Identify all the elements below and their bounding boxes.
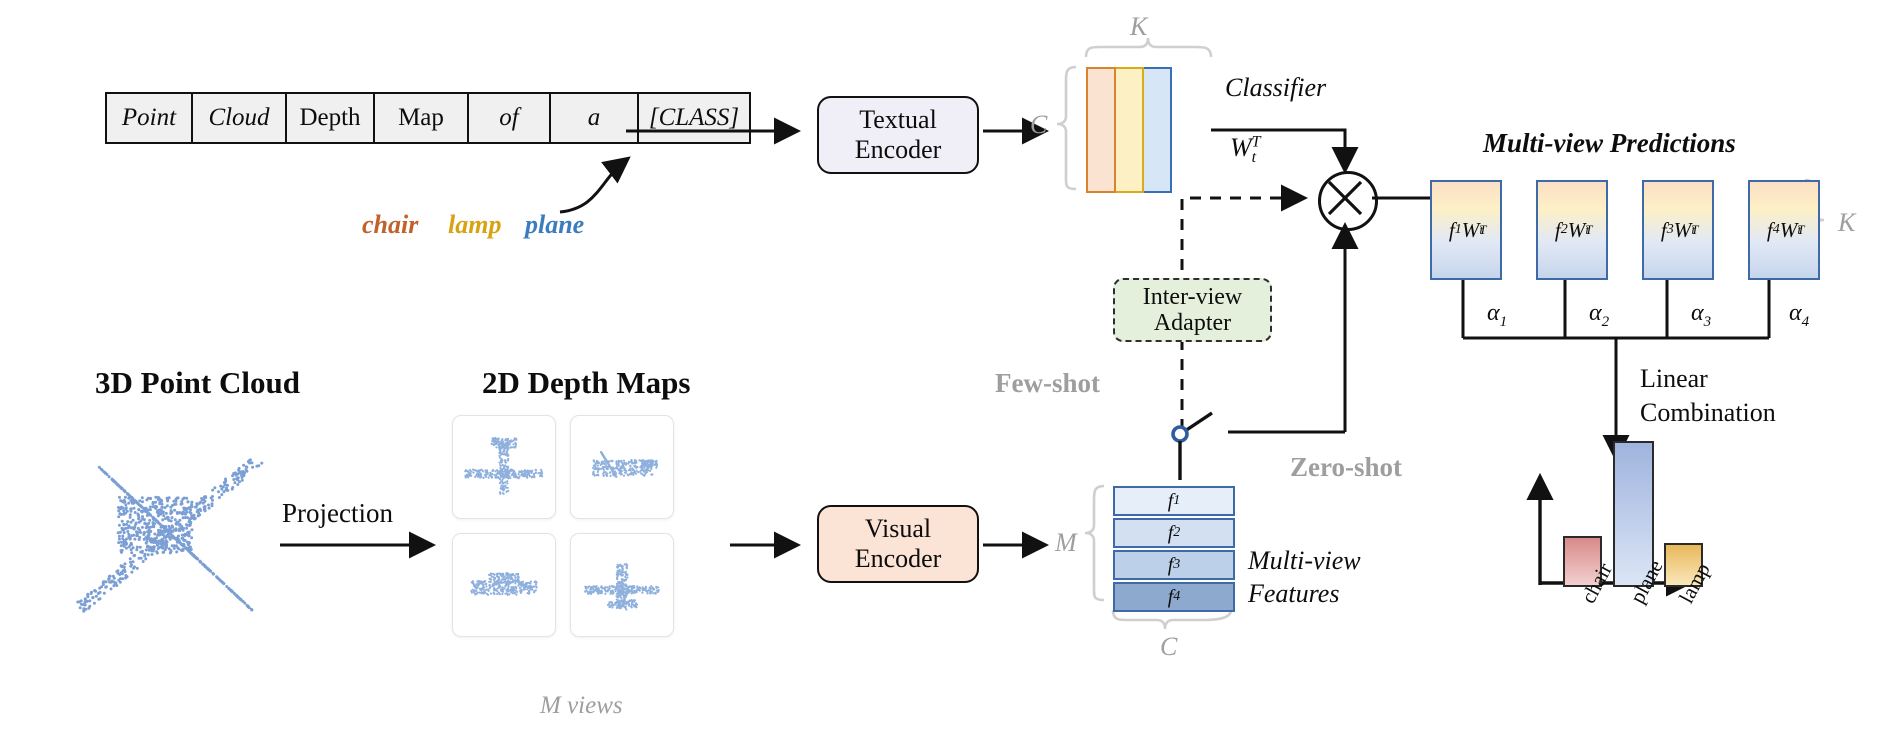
class-substitution-arrow xyxy=(560,160,626,212)
point-cloud-title: 3D Point Cloud xyxy=(95,365,300,401)
classifier-weight-sub: t xyxy=(1252,149,1256,166)
prediction-box-3[interactable]: f3WTt xyxy=(1642,180,1714,280)
prompt-token-of[interactable]: of xyxy=(469,94,551,142)
pred4-wsub: t xyxy=(1797,222,1801,238)
alpha-weight-1: α1 xyxy=(1487,300,1507,331)
linear-combination-label: Linear Combination xyxy=(1640,362,1776,430)
alpha3-sym: α xyxy=(1691,300,1704,326)
label-zero-shot: Zero-shot xyxy=(1290,452,1402,483)
adapter-line1: Inter-view xyxy=(1143,284,1242,310)
pred1-wsub: t xyxy=(1479,222,1483,238)
classifier-column-chair xyxy=(1086,67,1116,193)
label-M-left: M xyxy=(1055,528,1077,558)
class-word-lamp[interactable]: lamp xyxy=(448,210,501,240)
point-cloud-visual xyxy=(60,430,290,620)
depth-map-view-2[interactable] xyxy=(570,415,674,519)
prompt-token-table: Point Cloud Depth Map of a [CLASS] xyxy=(105,92,751,144)
pred4-w: W xyxy=(1780,218,1798,243)
feature-row-f1: f1 xyxy=(1113,486,1235,516)
features-caption-line2: Features xyxy=(1248,578,1361,611)
alpha4-sub: 4 xyxy=(1802,314,1810,330)
textual-encoder-line2: Encoder xyxy=(855,135,942,165)
visual-encoder-line2: Encoder xyxy=(855,544,942,574)
linear-combination-line1: Linear xyxy=(1640,362,1776,396)
visual-encoder-box[interactable]: Visual Encoder xyxy=(817,505,979,583)
prompt-token-map[interactable]: Map xyxy=(375,94,469,142)
multi-view-feature-stack[interactable]: f1 f2 f3 f4 xyxy=(1113,486,1235,614)
prediction-box-4[interactable]: f4WTt xyxy=(1748,180,1820,280)
alpha4-sym: α xyxy=(1789,300,1802,326)
pred3-fsub: 3 xyxy=(1667,222,1674,238)
feature-row-f3: f3 xyxy=(1113,550,1235,580)
bar-tick-plane: plane xyxy=(1625,556,1668,608)
bar-lamp xyxy=(1664,543,1703,587)
textual-encoder-line1: Textual xyxy=(859,105,937,135)
bar-chair xyxy=(1563,536,1602,587)
feature-sub-2: 2 xyxy=(1173,525,1180,541)
visual-encoder-line1: Visual xyxy=(865,514,931,544)
alpha-weight-3: α3 xyxy=(1691,300,1711,331)
label-K-top: K xyxy=(1130,12,1147,42)
projection-label: Projection xyxy=(282,498,393,529)
label-C-bottom: C xyxy=(1160,632,1177,662)
classifier-title: Classifier xyxy=(1225,73,1326,103)
features-caption-line1: Multi-view xyxy=(1248,545,1361,578)
depth-map-view-1[interactable] xyxy=(452,415,556,519)
feature-sub-3: 3 xyxy=(1173,557,1180,573)
depth-map-view-3[interactable] xyxy=(452,533,556,637)
inter-view-adapter-box[interactable]: Inter-view Adapter xyxy=(1113,278,1272,342)
class-word-plane[interactable]: plane xyxy=(525,210,584,240)
pred3-wsub: t xyxy=(1691,222,1695,238)
predictions-title: Multi-view Predictions xyxy=(1483,128,1736,159)
alpha2-sub: 2 xyxy=(1602,314,1610,330)
feature-sub-1: 1 xyxy=(1173,493,1180,509)
textual-encoder-box[interactable]: Textual Encoder xyxy=(817,96,979,174)
bar-tick-lamp: lamp xyxy=(1674,559,1716,608)
prompt-token-class[interactable]: [CLASS] xyxy=(639,94,749,142)
pred4-fsub: 4 xyxy=(1773,222,1780,238)
pred3-w: W xyxy=(1674,218,1692,243)
alpha-weight-2: α2 xyxy=(1589,300,1609,331)
switch-blade xyxy=(1182,413,1212,433)
feature-row-f4: f4 xyxy=(1113,582,1235,612)
brace-M-left xyxy=(1085,486,1104,600)
depth-maps-caption: M views xyxy=(540,692,623,720)
multiply-circle-icon xyxy=(1318,171,1378,231)
prediction-box-row: f1WTt f2WTt f3WTt f4WTt xyxy=(1430,180,1820,280)
brace-K-top xyxy=(1086,38,1211,57)
classifier-column-plane xyxy=(1144,67,1172,193)
brace-C-left xyxy=(1057,67,1076,189)
adapter-line2: Adapter xyxy=(1154,310,1231,336)
depth-map-view-4[interactable] xyxy=(570,533,674,637)
feature-sub-4: 4 xyxy=(1173,589,1180,605)
bar-plane xyxy=(1613,441,1654,587)
pred2-wsub: t xyxy=(1585,222,1589,238)
linear-combination-line2: Combination xyxy=(1640,396,1776,430)
alpha2-sym: α xyxy=(1589,300,1602,326)
feature-row-f2: f2 xyxy=(1113,518,1235,548)
prompt-token-cloud[interactable]: Cloud xyxy=(193,94,287,142)
prediction-box-1[interactable]: f1WTt xyxy=(1430,180,1502,280)
prompt-token-point[interactable]: Point xyxy=(107,94,193,142)
classifier-weight-symbol: W xyxy=(1230,133,1252,162)
depth-maps-title: 2D Depth Maps xyxy=(482,365,690,401)
prompt-token-a[interactable]: a xyxy=(551,94,639,142)
classifier-matrix[interactable] xyxy=(1086,67,1172,189)
depth-map-grid xyxy=(452,415,672,635)
classifier-column-lamp xyxy=(1116,67,1144,193)
pred1-fsub: 1 xyxy=(1455,222,1462,238)
label-K-right: K xyxy=(1838,208,1855,238)
alpha-weight-4: α4 xyxy=(1789,300,1809,331)
classifier-weight-formula: WTt xyxy=(1230,133,1256,167)
pred1-w: W xyxy=(1462,218,1480,243)
pred2-fsub: 2 xyxy=(1561,222,1568,238)
label-few-shot: Few-shot xyxy=(995,368,1100,399)
alpha1-sym: α xyxy=(1487,300,1500,326)
prediction-box-2[interactable]: f2WTt xyxy=(1536,180,1608,280)
alpha3-sub: 3 xyxy=(1704,314,1712,330)
class-word-chair[interactable]: chair xyxy=(362,210,418,240)
switch-pivot xyxy=(1173,427,1187,441)
pred2-w: W xyxy=(1568,218,1586,243)
bar-tick-chair: chair xyxy=(1576,559,1618,608)
alpha1-sub: 1 xyxy=(1500,314,1508,330)
prompt-token-depth[interactable]: Depth xyxy=(287,94,375,142)
classifier-weight-sup: T xyxy=(1252,133,1261,150)
label-C-left: C xyxy=(1030,110,1047,140)
features-caption: Multi-view Features xyxy=(1248,545,1361,610)
